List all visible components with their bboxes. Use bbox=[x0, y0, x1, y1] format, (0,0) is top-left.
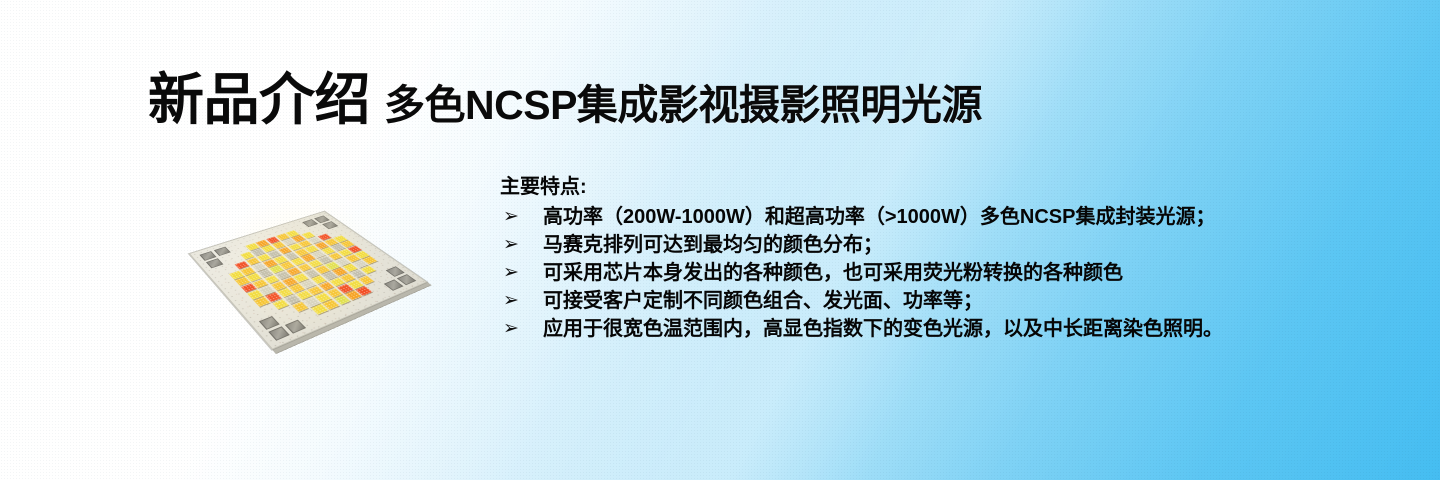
product-image-led-module bbox=[196, 178, 410, 354]
features-list: ➢高功率（200W-1000W）和超高功率（>1000W）多色NCSP集成封装光… bbox=[500, 203, 1223, 343]
feature-item-label: 可采用芯片本身发出的各种颜色，也可采用荧光粉转换的各种颜色 bbox=[543, 259, 1123, 287]
arrow-bullet-icon: ➢ bbox=[500, 315, 543, 343]
features-block: 主要特点: ➢高功率（200W-1000W）和超高功率（>1000W）多色NCS… bbox=[500, 176, 1223, 343]
feature-item: ➢可采用芯片本身发出的各种颜色，也可采用荧光粉转换的各种颜色 bbox=[500, 259, 1223, 287]
features-heading: 主要特点: bbox=[500, 176, 1223, 198]
feature-item: ➢可接受客户定制不同颜色组合、发光面、功率等； bbox=[500, 287, 1223, 315]
arrow-bullet-icon: ➢ bbox=[500, 231, 543, 259]
feature-item: ➢应用于很宽色温范围内，高显色指数下的变色光源，以及中长距离染色照明。 bbox=[500, 315, 1223, 343]
arrow-bullet-icon: ➢ bbox=[500, 287, 543, 315]
arrow-bullet-icon: ➢ bbox=[500, 203, 543, 231]
title-main: 新品介绍 bbox=[148, 72, 370, 128]
feature-item-label: 高功率（200W-1000W）和超高功率（>1000W）多色NCSP集成封装光源… bbox=[543, 203, 1216, 231]
feature-item: ➢高功率（200W-1000W）和超高功率（>1000W）多色NCSP集成封装光… bbox=[500, 203, 1223, 231]
arrow-bullet-icon: ➢ bbox=[500, 259, 543, 287]
title-subtitle: 多色NCSP集成影视摄影照明光源 bbox=[384, 85, 982, 126]
slide-canvas: 新品介绍 多色NCSP集成影视摄影照明光源 bbox=[0, 0, 1440, 480]
feature-item-label: 应用于很宽色温范围内，高显色指数下的变色光源，以及中长距离染色照明。 bbox=[543, 315, 1223, 343]
page-title: 新品介绍 多色NCSP集成影视摄影照明光源 bbox=[148, 72, 982, 128]
feature-item-label: 马赛克排列可达到最均匀的颜色分布； bbox=[543, 231, 883, 259]
feature-item: ➢马赛克排列可达到最均匀的颜色分布； bbox=[500, 231, 1223, 259]
led-substrate bbox=[189, 211, 427, 349]
feature-item-label: 可接受客户定制不同颜色组合、发光面、功率等； bbox=[543, 287, 983, 315]
led-module-perspective-scene bbox=[166, 204, 447, 362]
